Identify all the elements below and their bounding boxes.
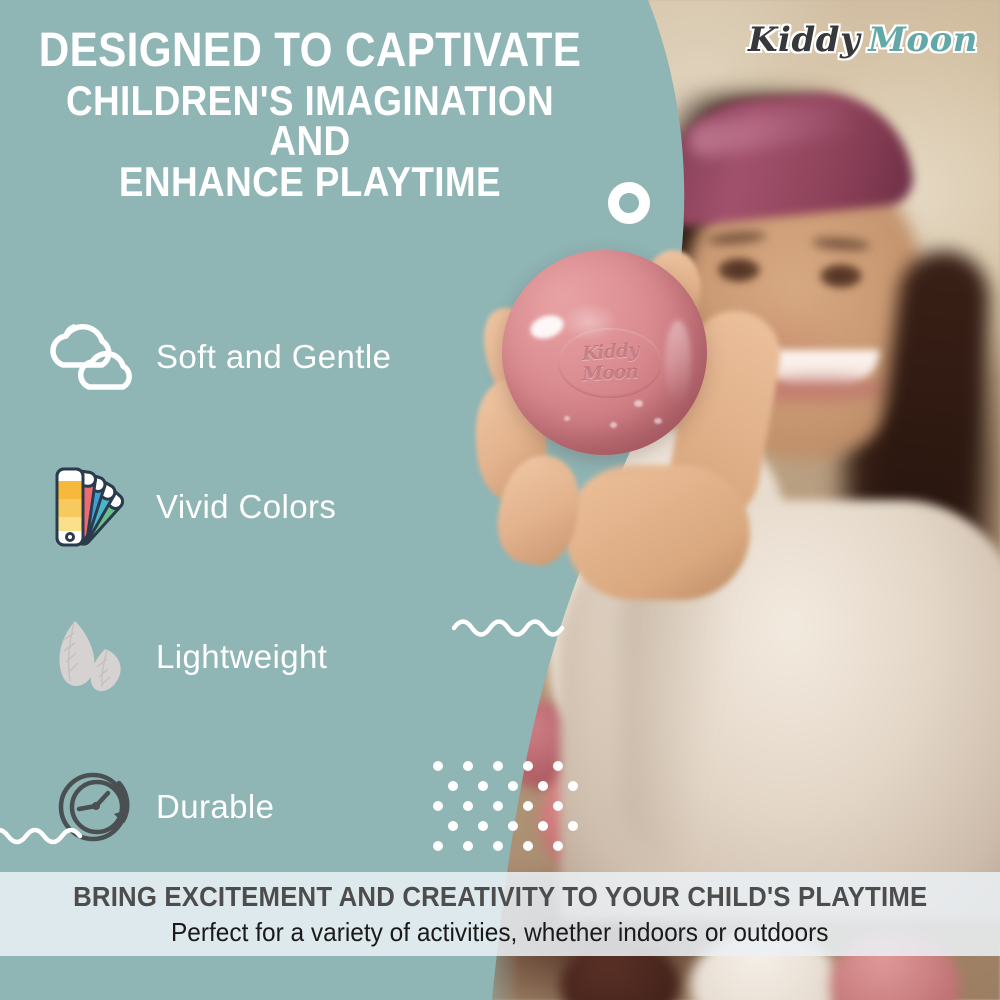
feature-label: Lightweight: [156, 638, 327, 676]
ball-brand-emboss: Kiddy Moon: [562, 334, 658, 392]
feature-item-vivid-colors: Vivid Colors: [38, 432, 468, 582]
clouds-icon: [38, 315, 156, 399]
feature-item-lightweight: Lightweight: [38, 582, 468, 732]
banner-title: BRING EXCITEMENT AND CREATIVITY TO YOUR …: [73, 881, 927, 913]
wavy-line-icon: [452, 612, 584, 642]
feature-label: Soft and Gentle: [156, 338, 391, 376]
wavy-line-icon: [0, 822, 100, 850]
bottom-teal-strip: [0, 956, 1000, 1000]
infographic-canvas: Kiddy Moon DESIGNED TO CAPTIVATE CHILDRE…: [0, 0, 1000, 1000]
headline-line-2: CHILDREN'S IMAGINATION AND: [37, 81, 583, 162]
headline-line-3: ENHANCE PLAYTIME: [37, 162, 583, 203]
feature-item-soft-and-gentle: Soft and Gentle: [38, 282, 468, 432]
ball-highlight: [665, 320, 691, 406]
dot-grid-icon: [432, 760, 584, 852]
palm: [565, 465, 750, 600]
banner-subtitle: Perfect for a variety of activities, whe…: [171, 917, 828, 948]
brand-logo: KiddyMoon: [748, 20, 978, 60]
pink-play-ball: Kiddy Moon: [502, 250, 707, 455]
bottom-banner: BRING EXCITEMENT AND CREATIVITY TO YOUR …: [0, 872, 1000, 956]
headline: DESIGNED TO CAPTIVATE CHILDREN'S IMAGINA…: [0, 28, 620, 203]
child-sweater-fold: [620, 560, 750, 860]
ball-emboss-line2: Moon: [581, 363, 638, 385]
feature-list: Soft and Gentle: [38, 282, 468, 882]
brand-logo-kiddy: Kiddy: [748, 20, 860, 60]
feature-label: Vivid Colors: [156, 488, 336, 526]
brand-logo-moon: Moon: [868, 20, 978, 60]
feather-icon: [38, 615, 156, 699]
feature-item-durable: Durable: [38, 732, 468, 882]
circle-outline-icon: [608, 182, 650, 224]
feature-label: Durable: [156, 788, 274, 826]
ball-speck: [564, 416, 570, 421]
ball-speck: [634, 400, 643, 407]
ball-speck: [610, 422, 617, 428]
ball-speck: [654, 418, 662, 424]
headline-line-1: DESIGNED TO CAPTIVATE: [37, 28, 583, 75]
color-swatches-icon: [38, 461, 156, 553]
child-eye-right: [820, 264, 862, 288]
